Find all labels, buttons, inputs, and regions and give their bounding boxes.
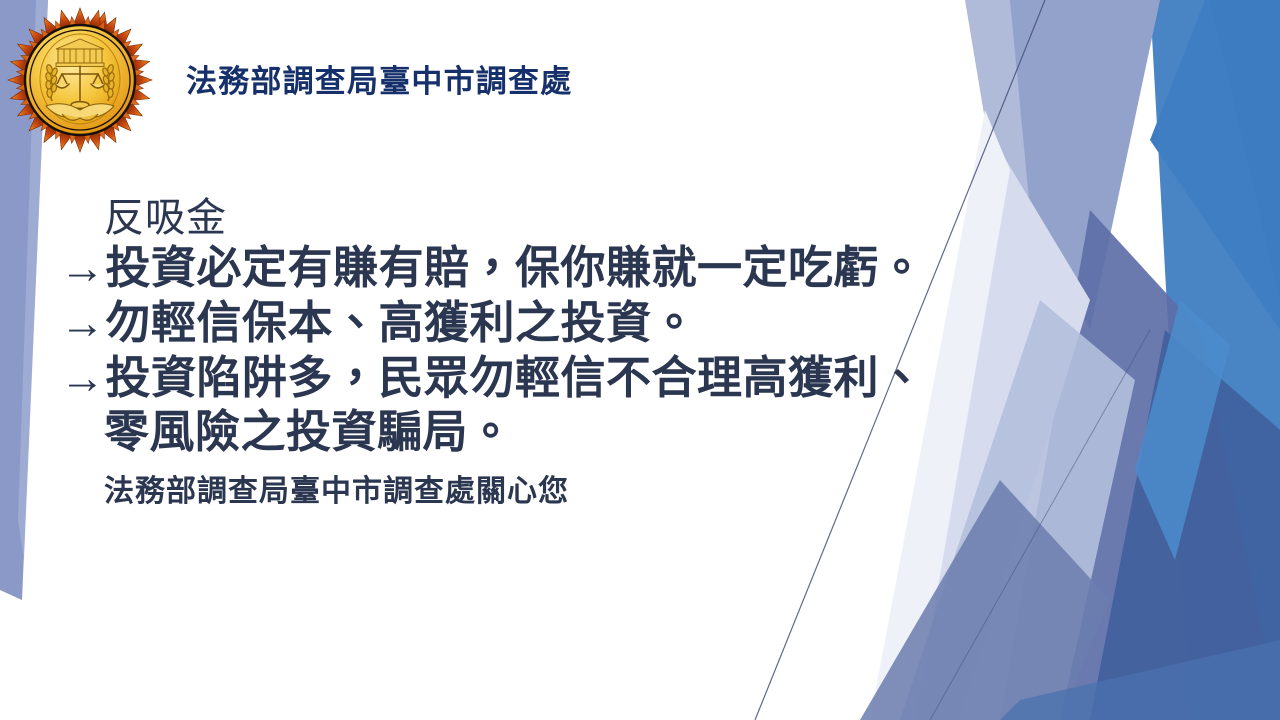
closing-signature: 法務部調查局臺中市調查處關心您 [60,474,1010,510]
decor-shape-periwinkle-top-light [965,0,1030,210]
bullet-line-3-continuation: 零風險之投資騙局。 [60,405,1010,460]
slide-canvas: 法務部調查局臺中市調查處 反吸金 →投資必定有賺有賠，保你賺就一定吃虧。 →勿輕… [0,0,1280,720]
decor-shape-bright-blue-right-2 [1150,0,1280,720]
bullet-line-3: →投資陷阱多，民眾勿輕信不合理高獲利、 [60,351,1010,406]
decor-shape-slate-mid [1000,210,1280,720]
lead-heading: 反吸金 [60,196,1010,241]
decor-shape-bright-blue-right [1150,0,1280,330]
justice-scales-emblem-icon [6,6,154,154]
bullet-line-2: →勿輕信保本、高獲利之投資。 [60,296,1010,351]
content-block: 反吸金 →投資必定有賺有賠，保你賺就一定吃虧。 →勿輕信保本、高獲利之投資。 →… [60,196,1010,510]
decor-shape-periwinkle-top [995,0,1160,330]
decor-shape-slate-bottom [860,480,1110,720]
bullet-line-1: →投資必定有賺有賠，保你賺就一定吃虧。 [60,241,1010,296]
decor-shape-deep-blue-lower [1090,330,1280,720]
organization-title: 法務部調查局臺中市調查處 [186,66,572,97]
decor-shape-bottom-strip [1000,640,1280,720]
decor-shape-accent-lower [1135,300,1230,560]
